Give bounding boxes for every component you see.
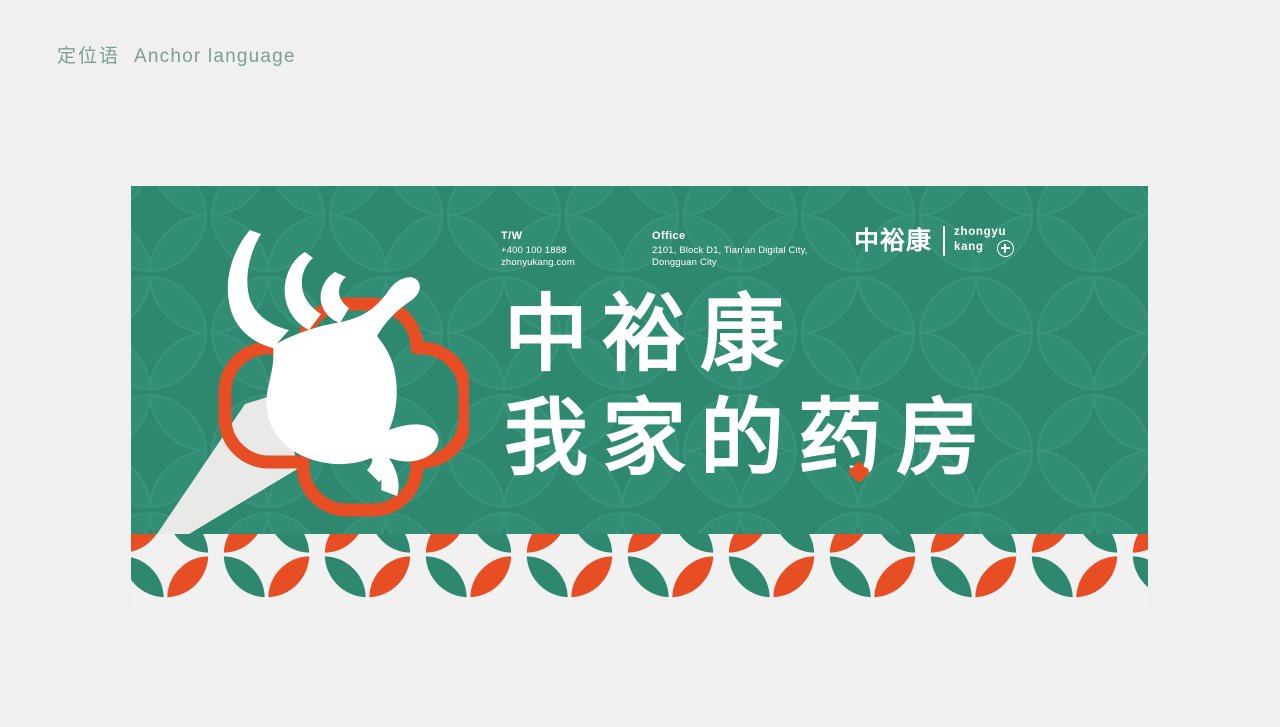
banner-green-area: T/W +400 100 1888 zhonyukang.com Office …	[131, 186, 1148, 534]
circle-plus-icon	[997, 240, 1014, 257]
page-caption: 定位语Anchor language	[57, 41, 296, 68]
contact-phone-title: T/W	[501, 230, 575, 242]
headline-line-1: 中裕康	[504, 286, 994, 382]
clover-accent-icon	[849, 462, 869, 482]
headline-block: 中裕康 我家的药房	[504, 286, 994, 486]
caption-chinese: 定位语	[57, 46, 120, 67]
contact-website: zhonyukang.com	[501, 257, 575, 269]
decorative-pattern-band	[131, 534, 1148, 608]
brand-lockup: 中裕康 zhongyu kang	[854, 226, 1014, 257]
brand-divider	[943, 226, 945, 256]
contact-office-title: Office	[652, 230, 808, 242]
brand-chinese-name: 中裕康	[854, 226, 932, 256]
contact-office-block: Office 2101, Block D1, Tian'an Digital C…	[652, 230, 808, 268]
clover-band-pattern	[131, 534, 1148, 608]
brand-pinyin-line1: zhongyu	[954, 226, 1014, 240]
brand-banner: T/W +400 100 1888 zhonyukang.com Office …	[131, 186, 1148, 608]
contact-phone-number: +400 100 1888	[501, 245, 575, 257]
headline-line-2-text: 我家的药房	[504, 389, 994, 487]
page-root: 定位语Anchor language	[0, 0, 1280, 727]
brand-pinyin: zhongyu kang	[954, 226, 1014, 257]
headline-line-2: 我家的药房	[504, 390, 994, 486]
brand-pinyin-line2: kang	[954, 241, 984, 255]
contact-phone-block: T/W +400 100 1888 zhonyukang.com	[501, 230, 575, 268]
contact-office-address-line1: 2101, Block D1, Tian'an Digital City,	[652, 245, 808, 257]
caption-english: Anchor language	[134, 46, 296, 67]
deer-logo-icon	[149, 208, 469, 534]
contact-office-address-line2: Dongguan City	[652, 257, 808, 269]
